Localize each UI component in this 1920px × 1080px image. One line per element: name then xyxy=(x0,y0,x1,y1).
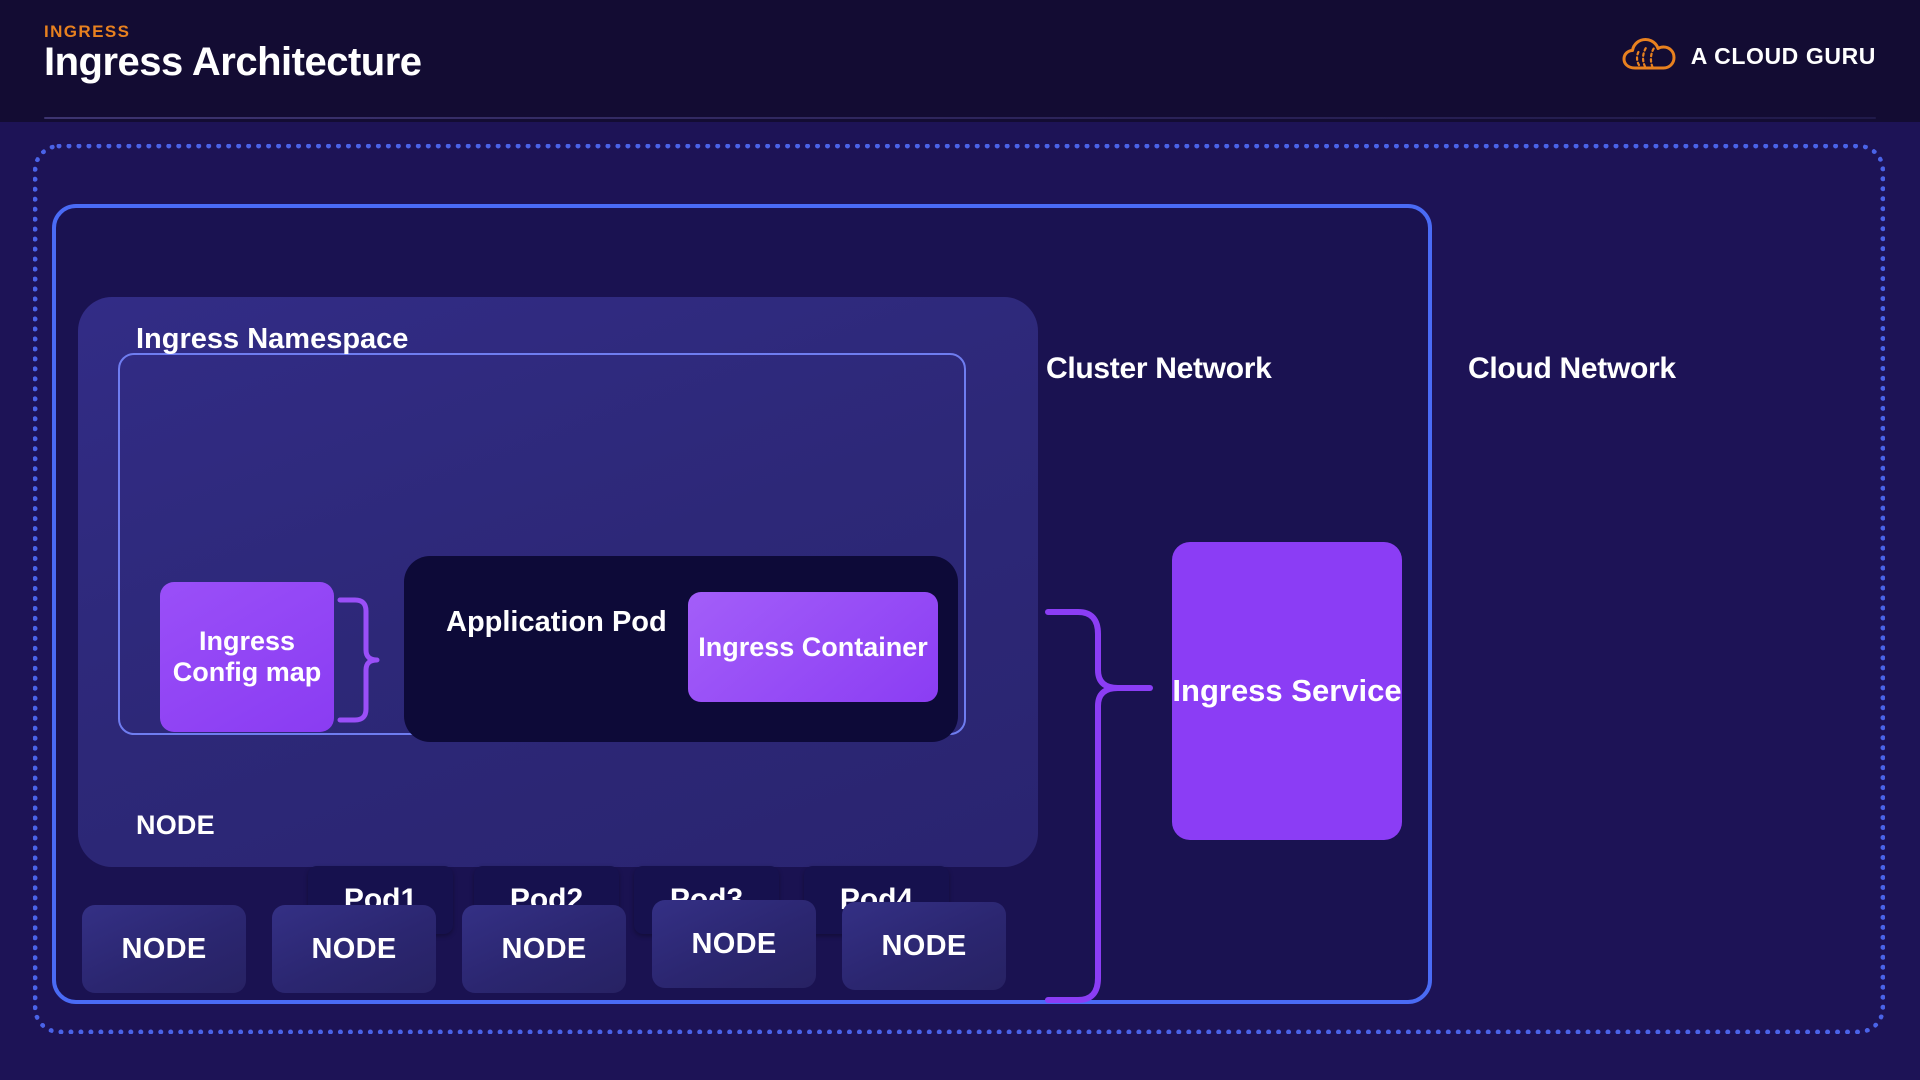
page-header: INGRESS Ingress Architecture A CLOUD GUR… xyxy=(0,0,1920,122)
main-node-label: NODE xyxy=(136,810,215,841)
ingress-service-box: Ingress Service xyxy=(1172,542,1402,840)
page-title: Ingress Architecture xyxy=(44,40,422,85)
node-box: NODE xyxy=(842,902,1006,990)
application-pod-label: Application Pod xyxy=(446,606,667,638)
header-eyebrow: INGRESS xyxy=(44,22,130,42)
application-pod-box: Application Pod Ingress Container xyxy=(404,556,958,742)
brand-name: A CLOUD GURU xyxy=(1691,43,1876,70)
node-box: NODE xyxy=(272,905,436,993)
node-box: NODE xyxy=(462,905,626,993)
cloud-network-label: Cloud Network xyxy=(1468,352,1676,386)
ingress-configmap-box: Ingress Config map xyxy=(160,582,334,732)
node-box: NODE xyxy=(652,900,816,988)
cluster-network-label: Cluster Network xyxy=(1046,352,1272,386)
ingress-namespace-label: Ingress Namespace xyxy=(136,323,408,356)
ingress-container-box: Ingress Container xyxy=(688,592,938,702)
header-divider xyxy=(44,117,1876,119)
brand-lockup: A CLOUD GURU xyxy=(1621,34,1876,79)
cloud-logo-icon xyxy=(1621,34,1677,79)
diagram-canvas: Cluster Network Cloud Network Ingress Na… xyxy=(0,122,1920,1080)
node-box: NODE xyxy=(82,905,246,993)
